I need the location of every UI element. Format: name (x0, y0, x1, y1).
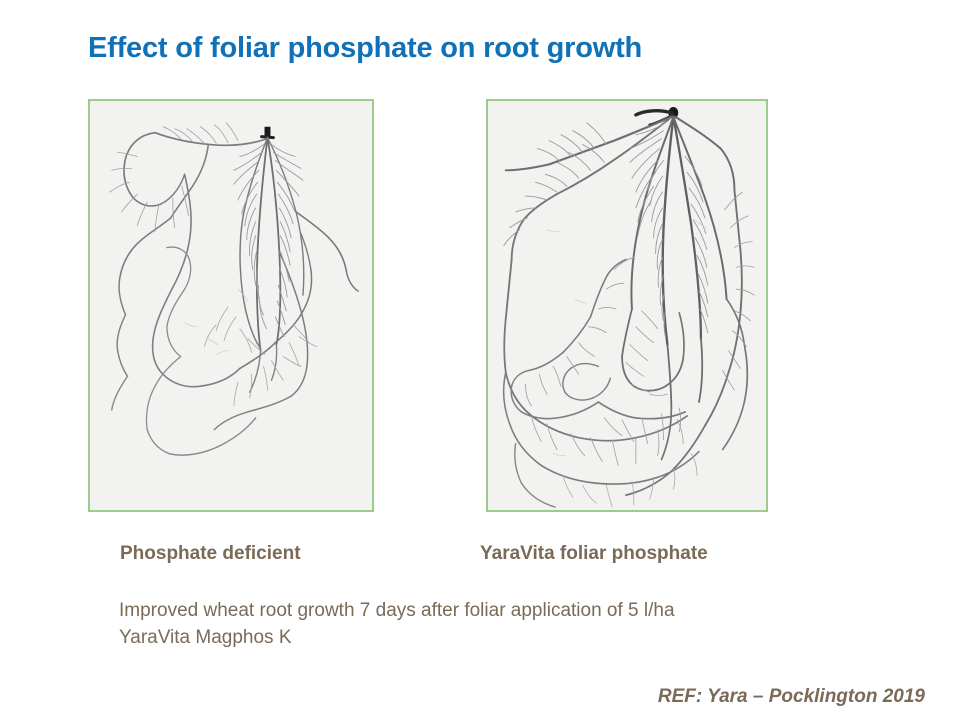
root-scan-image-yaravita-foliar-phosphate (488, 101, 766, 510)
caption-yaravita-foliar-phosphate: YaraVita foliar phosphate (480, 543, 708, 565)
root-scan-image-phosphate-deficient (90, 101, 372, 510)
description-line-2: YaraVita Magphos K (119, 624, 879, 651)
reference-citation: REF: Yara – Pocklington 2019 (658, 686, 925, 708)
caption-phosphate-deficient: Phosphate deficient (120, 543, 301, 565)
photo-frame-phosphate-deficient[interactable] (88, 99, 374, 512)
photo-frame-yaravita-foliar-phosphate[interactable] (486, 99, 768, 512)
page-title: Effect of foliar phosphate on root growt… (88, 32, 642, 65)
description-line-1: Improved wheat root growth 7 days after … (119, 597, 879, 624)
description-text: Improved wheat root growth 7 days after … (119, 597, 879, 651)
